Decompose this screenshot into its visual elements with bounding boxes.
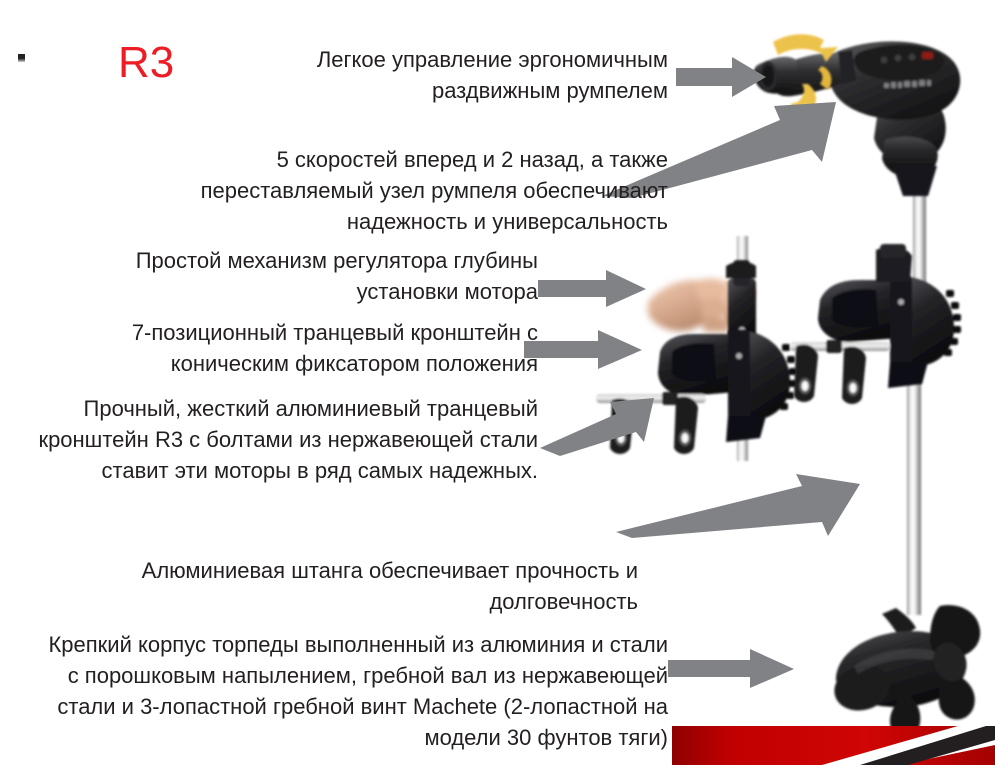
corner-artifact-dot — [18, 54, 25, 62]
bottom-banner-graphic — [672, 726, 995, 765]
caption-tiller: Легкое управление эргономичным раздвижны… — [300, 44, 668, 106]
arrow-to-depth-adjust — [538, 270, 648, 308]
transom-bracket-photo-right — [790, 244, 961, 404]
arrow-to-shaft — [616, 474, 864, 540]
arrow-to-bracket-body — [540, 398, 656, 458]
arrow-to-tiller-head — [676, 56, 768, 98]
slide-canvas: R3 Легкое управление эргономичным раздви… — [0, 0, 995, 765]
caption-depth: Простой механизм регулятора глубины уста… — [60, 245, 538, 307]
caption-transom: 7-позиционный транцевый кронштейн с кони… — [40, 317, 538, 379]
arrow-to-transom-bracket — [524, 330, 644, 370]
caption-shaft: Алюминиевая штанга обеспечивает прочност… — [70, 555, 638, 617]
torpedo-propeller-photo — [829, 605, 980, 739]
caption-torpedo: Крепкий корпус торпеды выполненный из ал… — [40, 629, 668, 753]
page-title: R3 — [118, 38, 174, 88]
arrow-to-torpedo — [668, 648, 796, 690]
hand-depth-adjust-photo — [648, 260, 756, 340]
caption-bracket: Прочный, жесткий алюминиевый транцевый к… — [8, 393, 538, 486]
caption-speeds: 5 скоростей вперед и 2 назад, а также пе… — [120, 144, 668, 237]
